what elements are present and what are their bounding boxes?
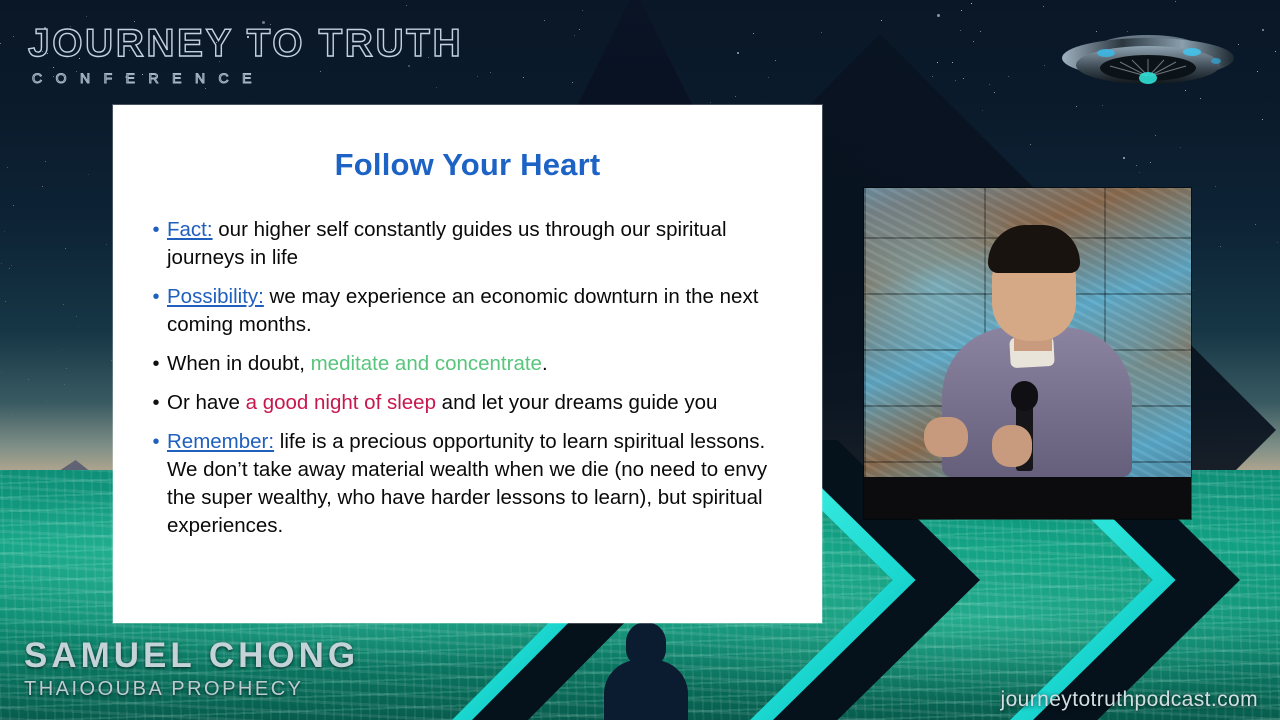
star [76,316,77,317]
star [937,62,938,63]
bullet-text-part: and let your dreams guide you [436,391,717,414]
star [1180,147,1181,148]
bullet-text-part: . [542,352,548,375]
bullet-marker-icon: • [145,389,167,417]
star [955,80,956,81]
star [1155,135,1156,136]
star [5,301,6,302]
star [1262,119,1263,120]
star [710,102,711,103]
star [989,84,990,85]
bullet-text: Possibility: we may experience an econom… [167,283,798,339]
podium [864,477,1191,519]
slide-bullet-1: •Fact: our higher self constantly guides… [145,216,798,272]
star [406,5,407,6]
star [1123,157,1125,159]
star [821,32,822,33]
star [64,384,65,385]
star [582,10,583,11]
star [1175,1,1176,2]
star [106,244,107,245]
star [1076,106,1077,107]
bullet-text-part: Remember: [167,430,274,453]
bullet-marker-icon: • [145,283,167,311]
page-title: Follow Your Heart [113,147,822,183]
star [1102,105,1103,106]
star [961,10,962,11]
bullet-text-part: Possibility: [167,285,264,308]
star [952,62,953,63]
bullet-text-part: When in doubt, [167,352,311,375]
star [768,77,769,78]
star [937,14,940,17]
star [960,30,961,31]
star [1044,65,1045,66]
star [46,401,47,402]
star [1220,246,1221,247]
bullet-text-part: a good night of sleep [246,391,436,414]
star [88,174,89,175]
star [78,326,79,327]
bullet-text: Or have a good night of sleep and let yo… [167,389,717,417]
bullet-marker-icon: • [145,350,167,378]
speaker-hand-left [992,425,1032,467]
star [574,35,575,36]
star [1008,76,1009,77]
bullet-text: Remember: life is a precious opportunity… [167,428,798,540]
star [28,379,29,380]
star [62,349,63,350]
bullet-text-part: Fact: [167,218,213,241]
speaker-lower-third: SAMUEL CHONG THAIOOUBA PROPHECY [24,636,359,701]
star [1215,186,1216,187]
star [12,415,13,416]
logo-line-2: CONFERENCE [32,70,498,86]
star [1,263,2,264]
conference-logo: JOURNEY TO TRUTH CONFERENCE [28,22,498,86]
bullet-text: When in doubt, meditate and concentrate. [167,350,548,378]
star [205,88,206,89]
star [994,92,995,93]
star [1257,71,1258,72]
star [1030,144,1031,145]
microphone-head [1011,381,1038,411]
star [1136,165,1137,166]
star [1275,51,1276,52]
star [1255,224,1256,225]
star [1277,242,1278,243]
star [579,29,580,30]
star [753,33,754,34]
star [0,43,1,44]
star [1267,410,1268,411]
bullet-text: Fact: our higher self constantly guides … [167,216,798,272]
star [881,20,882,21]
speaker-video-feed[interactable] [864,188,1191,519]
star [66,368,67,369]
star [45,161,46,162]
slide-bullet-list: •Fact: our higher self constantly guides… [145,216,798,540]
slide-bullet-5: •Remember: life is a precious opportunit… [145,428,798,540]
bullet-text-part: meditate and concentrate [311,352,542,375]
star [7,167,8,168]
star [1150,162,1151,163]
star [4,231,5,232]
speaker-subtitle: THAIOOUBA PROPHECY [24,678,359,701]
star [42,186,43,187]
bullet-marker-icon: • [145,216,167,244]
star [9,268,10,269]
star [436,87,437,88]
slide-bullet-4: •Or have a good night of sleep and let y… [145,389,798,417]
presentation-slide: Follow Your Heart •Fact: our higher self… [113,105,822,623]
star [971,3,972,4]
star [63,304,64,305]
star [973,41,974,42]
slide-bullet-3: •When in doubt, meditate and concentrate… [145,350,798,378]
star [1,372,2,373]
star [13,205,14,206]
slide-bullet-2: •Possibility: we may experience an econo… [145,283,798,339]
broadcast-stage: JOURNEY TO TRUTH CONFERENCE Follow Your … [0,0,1280,720]
star [13,36,14,37]
star [963,78,964,79]
star [1139,172,1140,173]
website-url: journeytotruthpodcast.com [1001,688,1258,712]
bullet-text-part: our higher self constantly guides us thr… [167,218,727,269]
bullet-text-part: Or have [167,391,246,414]
star [1043,6,1044,7]
speaker-name: SAMUEL CHONG [24,636,359,676]
star [1193,290,1194,291]
star [523,77,524,78]
star [982,110,983,111]
star [544,20,545,21]
speaker-hand-right [924,417,968,457]
star [775,60,776,61]
star [86,16,87,17]
star [11,265,12,266]
star [737,52,739,54]
star [572,82,573,83]
star [1262,29,1264,31]
star [65,248,66,249]
star [735,96,736,97]
star [980,31,981,32]
star [932,76,933,77]
logo-line-1: JOURNEY TO TRUTH [28,22,498,66]
bullet-marker-icon: • [145,428,167,456]
ufo-icon [1058,28,1238,102]
